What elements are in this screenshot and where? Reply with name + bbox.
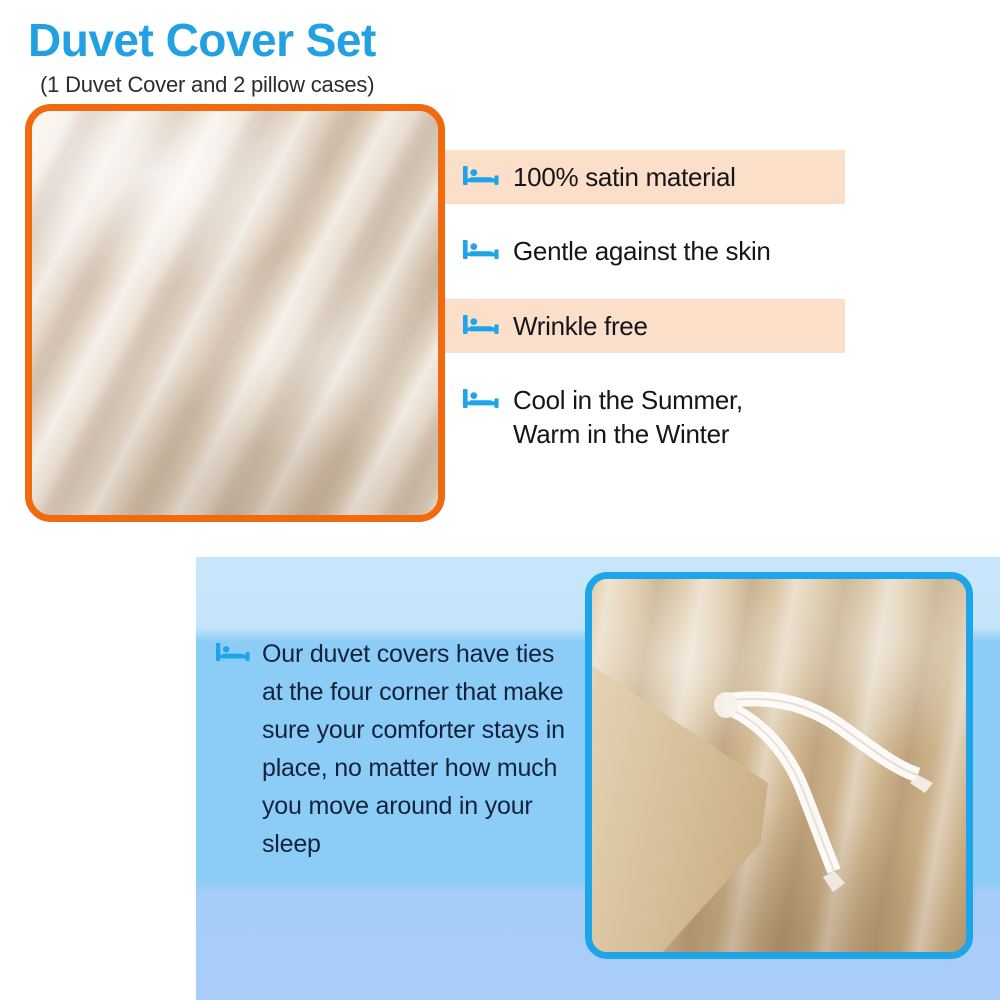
feature-row: Cool in the Summer, Warm in the Winter xyxy=(445,373,965,462)
page-subtitle: (1 Duvet Cover and 2 pillow cases) xyxy=(40,72,374,98)
feature-row: 100% satin material xyxy=(445,150,845,204)
product-photo-satin-fabric xyxy=(25,104,445,522)
page-title: Duvet Cover Set xyxy=(28,16,376,64)
bed-icon xyxy=(463,313,499,337)
white-ties-ribbons xyxy=(592,579,966,952)
feature-spacer xyxy=(445,353,965,373)
bed-icon xyxy=(463,164,499,188)
infographic-canvas: Duvet Cover Set (1 Duvet Cover and 2 pil… xyxy=(0,0,1000,1000)
feature-spacer xyxy=(445,279,965,299)
bed-icon xyxy=(216,641,250,664)
product-photo-corner-ties xyxy=(585,572,973,959)
bed-icon xyxy=(463,238,499,262)
bed-icon xyxy=(463,387,499,411)
ties-description: Our duvet covers have ties at the four c… xyxy=(216,635,576,863)
feature-row: Wrinkle free xyxy=(445,299,845,353)
feature-label: Gentle against the skin xyxy=(513,234,771,268)
feature-spacer xyxy=(445,204,965,224)
feature-row: Gentle against the skin xyxy=(445,224,965,278)
satin-fabric-texture xyxy=(32,111,438,515)
feature-label: Wrinkle free xyxy=(513,309,648,343)
ties-description-text: Our duvet covers have ties at the four c… xyxy=(262,635,576,863)
feature-list: 100% satin material Gentle against the s… xyxy=(445,150,965,462)
feature-label: 100% satin material xyxy=(513,160,736,194)
feature-label: Cool in the Summer, Warm in the Winter xyxy=(513,383,743,452)
